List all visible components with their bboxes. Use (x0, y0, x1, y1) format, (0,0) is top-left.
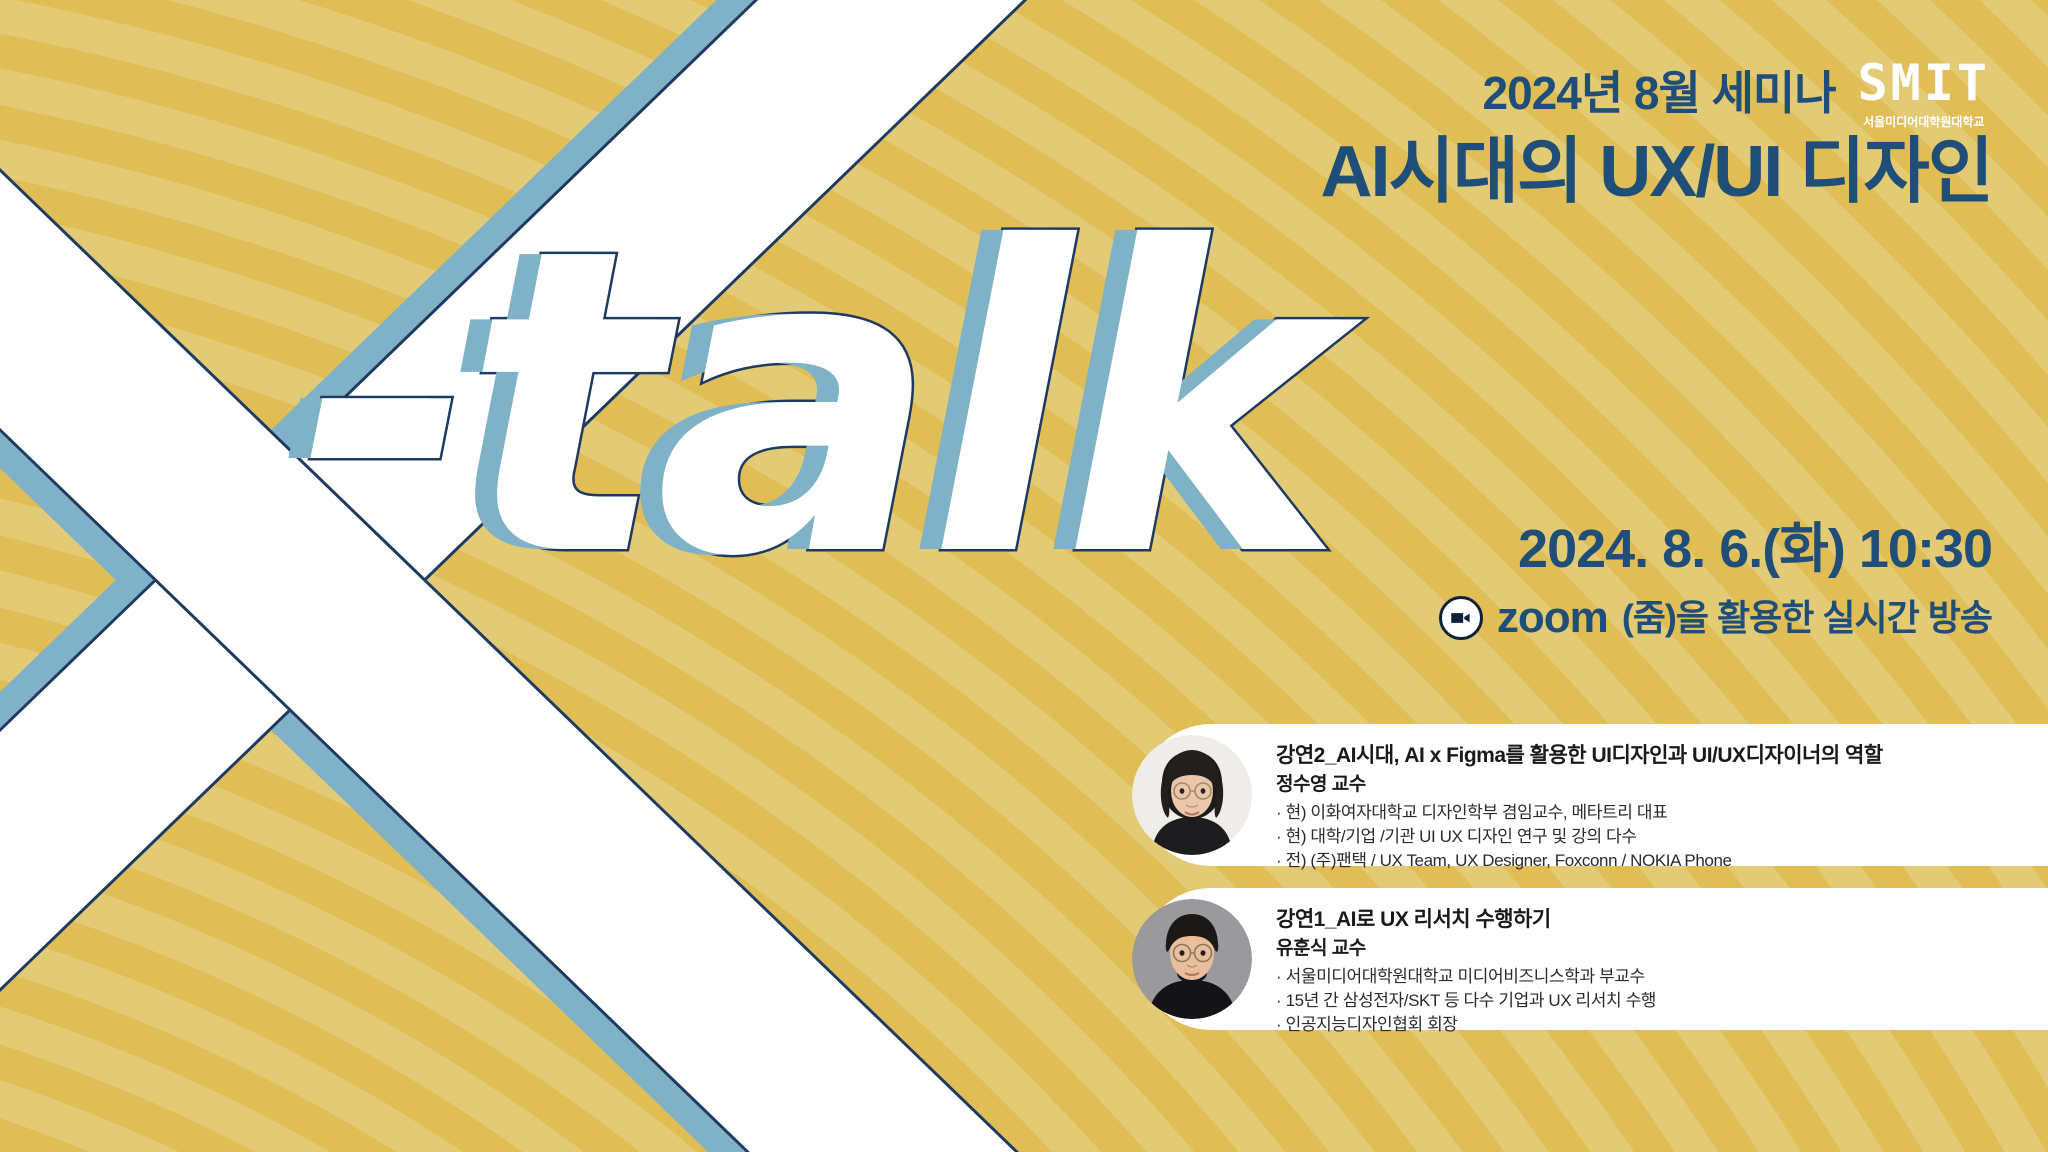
x-logo-graphic (0, 0, 1140, 1152)
broadcast-info: zoom (줌)을 활용한 실시간 방송 (1439, 596, 1992, 640)
session-title: 강연2_AI시대, AI x Figma를 활용한 UI디자인과 UI/UX디자… (1276, 744, 1883, 768)
seminar-label: 2024년 8월 세미나 (1483, 58, 1836, 116)
speaker-bio-list: · 서울미디어대학원대학교 미디어비즈니스학과 부교수 · 15년 간 삼성전자… (1276, 965, 1656, 1037)
speaker-bio-list: · 현) 이화여자대학교 디자인학부 겸임교수, 메타트리 대표 · 현) 대학… (1276, 801, 1883, 873)
smit-logo-subtitle: 서울미디어대학원대학교 (1863, 113, 1984, 130)
session-body: 강연2_AI시대, AI x Figma를 활용한 UI디자인과 UI/UX디자… (1276, 742, 1883, 873)
poster-header: 2024년 8월 세미나 SMIT 서울미디어대학원대학교 (1483, 58, 1991, 130)
page-title: AI시대의 UX/UI 디자인 (1321, 136, 1992, 208)
smit-logo-mark: SMIT (1858, 58, 1990, 108)
speaker-name: 정수영 교수 (1276, 774, 1883, 796)
list-item: · 서울미디어대학원대학교 미디어비즈니스학과 부교수 (1276, 965, 1656, 989)
speaker-photo-jung-suyoung (1132, 735, 1252, 855)
zoom-wordmark: zoom (1497, 596, 1608, 640)
smit-logo: SMIT 서울미디어대학원대학교 (1858, 58, 1990, 130)
list-item: · 현) 이화여자대학교 디자인학부 겸임교수, 메타트리 대표 (1276, 801, 1883, 825)
list-item: · 현) 대학/기업 /기관 UI UX 디자인 연구 및 강의 다수 (1276, 825, 1883, 849)
session-card: 강연1_AI로 UX 리서치 수행하기 유훈식 교수 · 서울미디어대학원대학교… (1140, 888, 2048, 1030)
video-camera-icon (1439, 596, 1483, 640)
speaker-name: 유훈식 교수 (1276, 938, 1656, 960)
session-body: 강연1_AI로 UX 리서치 수행하기 유훈식 교수 · 서울미디어대학원대학교… (1276, 906, 1656, 1037)
seminar-poster: -talk 2024년 8월 세미나 SMIT 서울미디어대학원대학교 AI시대… (0, 0, 2048, 1152)
list-item: · 전) (주)팬택 / UX Team, UX Designer, Foxco… (1276, 849, 1883, 873)
event-datetime: 2024. 8. 6.(화) 10:30 (1518, 522, 1992, 576)
list-item: · 15년 간 삼성전자/SKT 등 다수 기업과 UX 리서치 수행 (1276, 989, 1656, 1013)
speaker-photo-yoo-hoonsik (1132, 899, 1252, 1019)
list-item: · 인공지능디자인협회 회장 (1276, 1013, 1656, 1037)
broadcast-text: (줌)을 활용한 실시간 방송 (1622, 600, 1992, 636)
session-title: 강연1_AI로 UX 리서치 수행하기 (1276, 908, 1656, 932)
session-card: 강연2_AI시대, AI x Figma를 활용한 UI디자인과 UI/UX디자… (1140, 724, 2048, 866)
